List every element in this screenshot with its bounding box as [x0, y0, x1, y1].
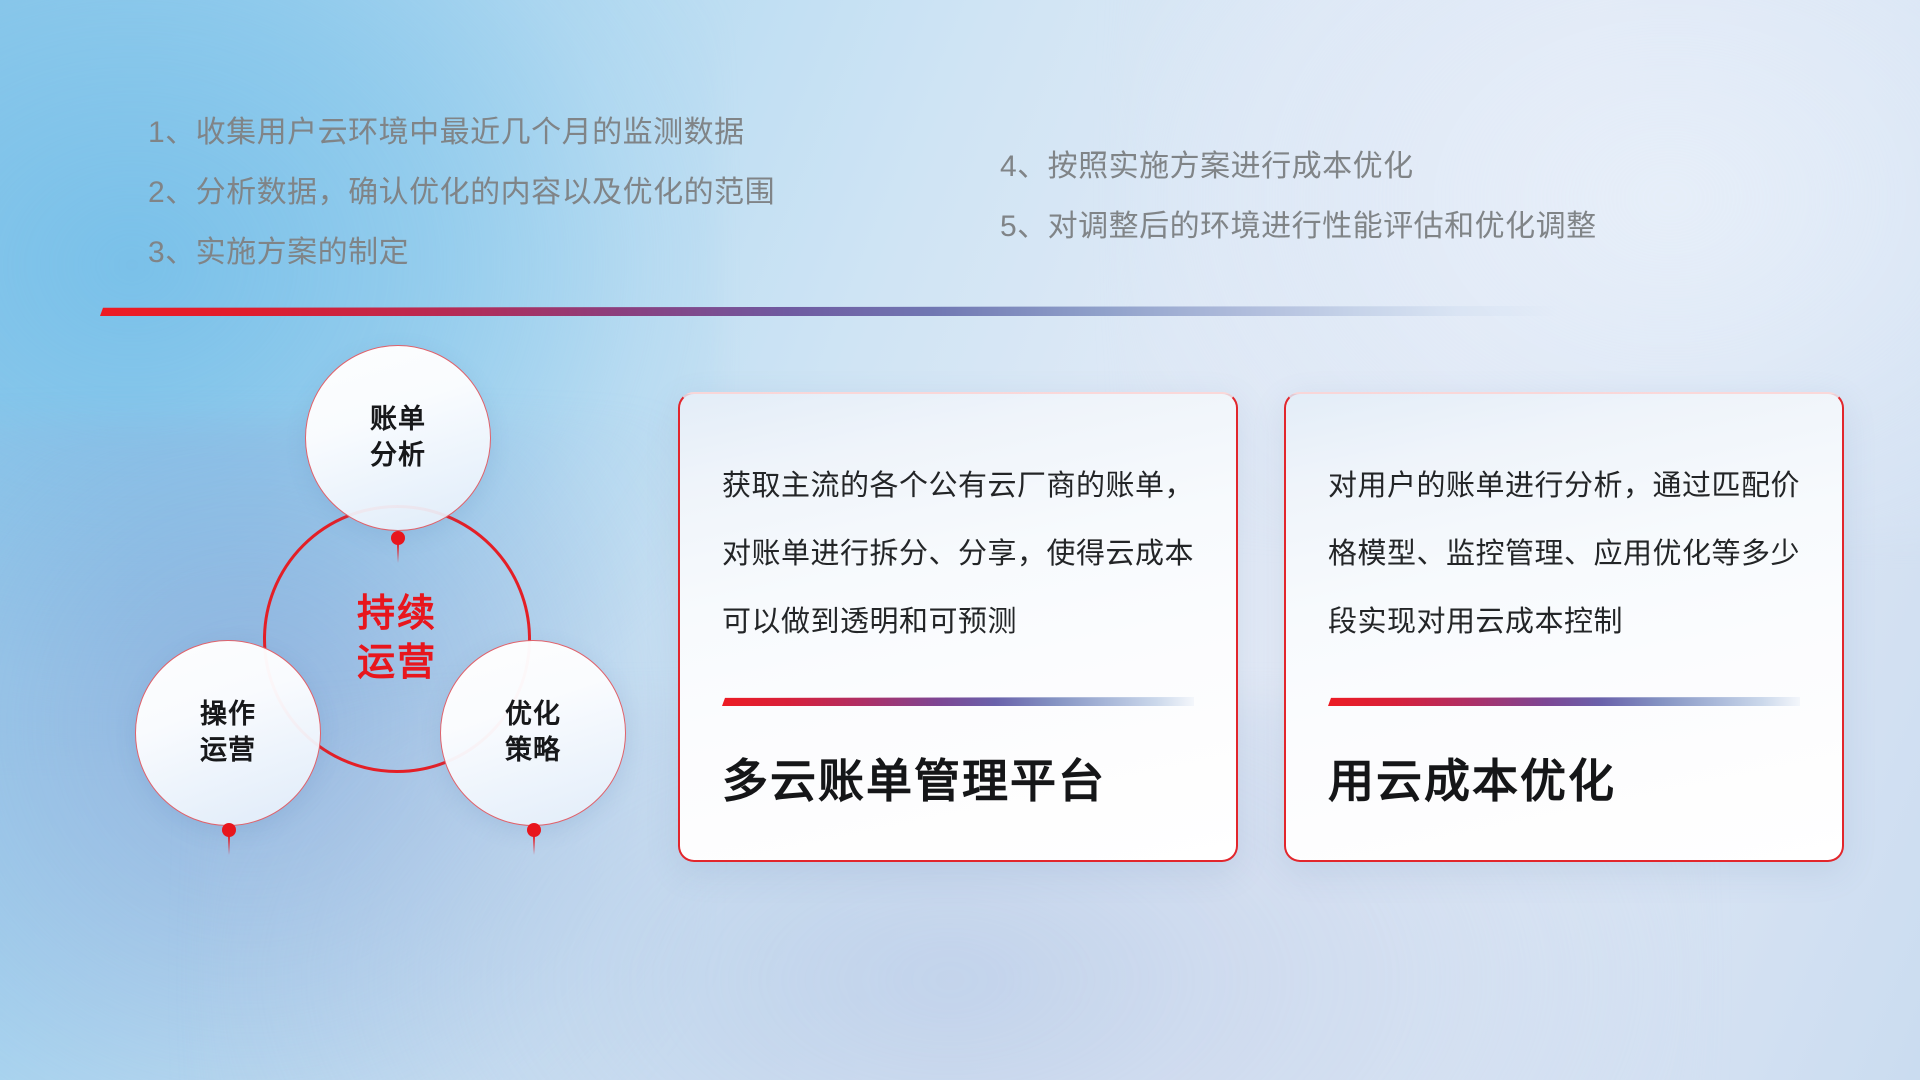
step-item-5: 5、对调整后的环境进行性能评估和优化调整	[1000, 212, 1597, 242]
diagram-bubble-optimization-strategy[interactable]: 优化 策略	[440, 640, 626, 826]
step-item-2: 2、分析数据，确认优化的内容以及优化的范围	[148, 178, 775, 208]
feature-card-billing-platform[interactable]: 获取主流的各个公有云厂商的账单，对账单进行拆分、分享，使得云成本可以做到透明和可…	[678, 392, 1238, 862]
bubble-label-line-2: 分析	[370, 438, 426, 474]
diagram-bubble-billing-analysis[interactable]: 账单 分析	[305, 345, 491, 531]
bubble-label-line-1: 优化	[505, 697, 561, 733]
bubble-label-line-2: 运营	[200, 733, 256, 769]
cycle-diagram: 持续 运营 账单 分析 操作 运营 优化 策略	[95, 345, 675, 945]
steps-left-column: 1、收集用户云环境中最近几个月的监测数据 2、分析数据，确认优化的内容以及优化的…	[148, 118, 775, 298]
step-item-1: 1、收集用户云环境中最近几个月的监测数据	[148, 118, 775, 148]
diagram-bubble-operations[interactable]: 操作 运营	[135, 640, 321, 826]
steps-right-column: 4、按照实施方案进行成本优化 5、对调整后的环境进行性能评估和优化调整	[1000, 152, 1597, 272]
card-accent-rule	[722, 697, 1194, 706]
step-item-4: 4、按照实施方案进行成本优化	[1000, 152, 1597, 182]
feature-card-cost-optimization[interactable]: 对用户的账单进行分析，通过匹配价格模型、监控管理、应用优化等多少段实现对用云成本…	[1284, 392, 1844, 862]
card-description: 获取主流的各个公有云厂商的账单，对账单进行拆分、分享，使得云成本可以做到透明和可…	[722, 452, 1194, 656]
card-title: 多云账单管理平台	[722, 706, 1194, 860]
node-dot-left	[222, 823, 236, 837]
bubble-label-line-1: 操作	[200, 697, 256, 733]
bubble-label-line-1: 账单	[370, 402, 426, 438]
card-title: 用云成本优化	[1328, 706, 1800, 860]
slide-canvas: 1、收集用户云环境中最近几个月的监测数据 2、分析数据，确认优化的内容以及优化的…	[0, 0, 1920, 1080]
node-dot-top	[391, 531, 405, 545]
bubble-label-line-2: 策略	[505, 733, 561, 769]
card-accent-rule	[1328, 697, 1800, 706]
center-label-line-2: 运营	[357, 639, 437, 688]
step-item-3: 3、实施方案的制定	[148, 238, 775, 268]
card-description: 对用户的账单进行分析，通过匹配价格模型、监控管理、应用优化等多少段实现对用云成本…	[1328, 452, 1800, 656]
node-tail-top	[397, 543, 399, 563]
node-dot-right	[527, 823, 541, 837]
node-tail-left	[228, 835, 230, 855]
node-tail-right	[533, 835, 535, 855]
center-label-line-1: 持续	[357, 590, 437, 639]
